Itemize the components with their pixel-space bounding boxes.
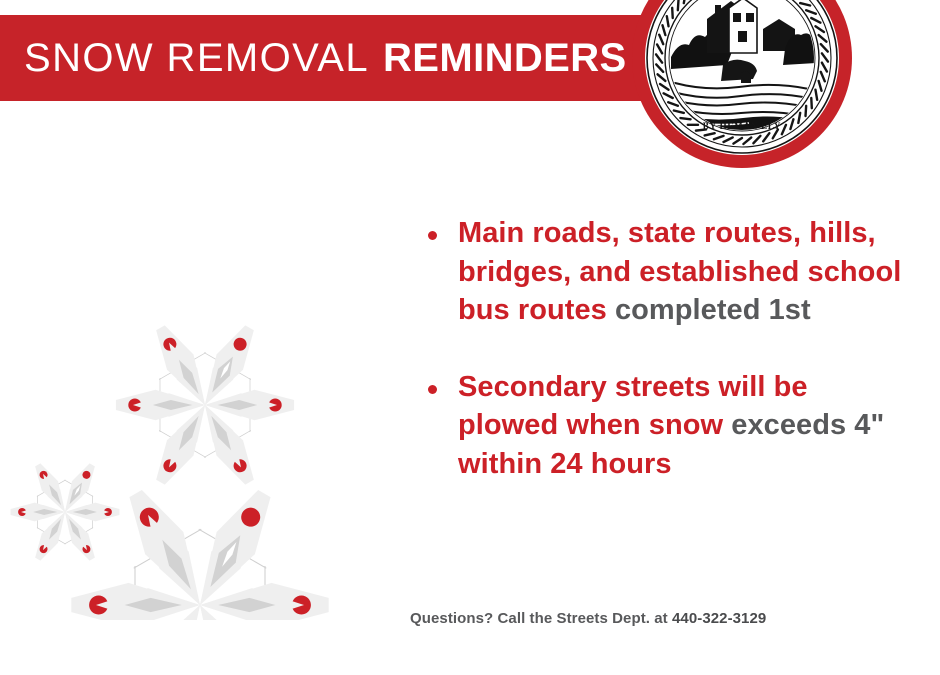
snowflake-top-icon (101, 294, 308, 517)
snowflake-decoration-group (0, 140, 400, 620)
page-title-light: SNOW REMOVAL (24, 36, 369, 81)
seal-attribution-text: BY HEMAN ELY (703, 121, 781, 131)
bullet-dot-icon (428, 231, 437, 240)
list-item: Secondary streets will be plowed when sn… (428, 368, 908, 484)
page-title-bold: REMINDERS (383, 36, 627, 81)
snowflake-small-icon (2, 444, 129, 580)
bullet-text-1: Main roads, state routes, hills, bridges… (458, 214, 908, 330)
poster-root: SNOW REMOVAL REMINDERS (0, 0, 940, 675)
page-title: SNOW REMOVAL REMINDERS (24, 15, 627, 101)
footer-contact: Questions? Call the Streets Dept. at 440… (410, 610, 766, 627)
snowflake-large-icon (50, 444, 349, 620)
reminders-list: Main roads, state routes, hills, bridges… (428, 214, 908, 521)
city-seal: FOUNDED IN 1817 INCORPORATED IN 1833 BY … (632, 0, 852, 168)
footer-phone-number: 440-322-3129 (672, 610, 766, 627)
list-item: Main roads, state routes, hills, bridges… (428, 214, 908, 330)
bullet-text-2: Secondary streets will be plowed when sn… (458, 368, 908, 484)
bullet-2-segment-gray: exceeds 4" (731, 409, 884, 441)
bullet-dot-icon (428, 385, 437, 394)
bullet-1-segment-gray: completed 1st (615, 294, 811, 326)
bullet-2-segment-red-2: within 24 hours (458, 448, 672, 480)
footer-question-text: Questions? Call the Streets Dept. at (410, 610, 672, 627)
